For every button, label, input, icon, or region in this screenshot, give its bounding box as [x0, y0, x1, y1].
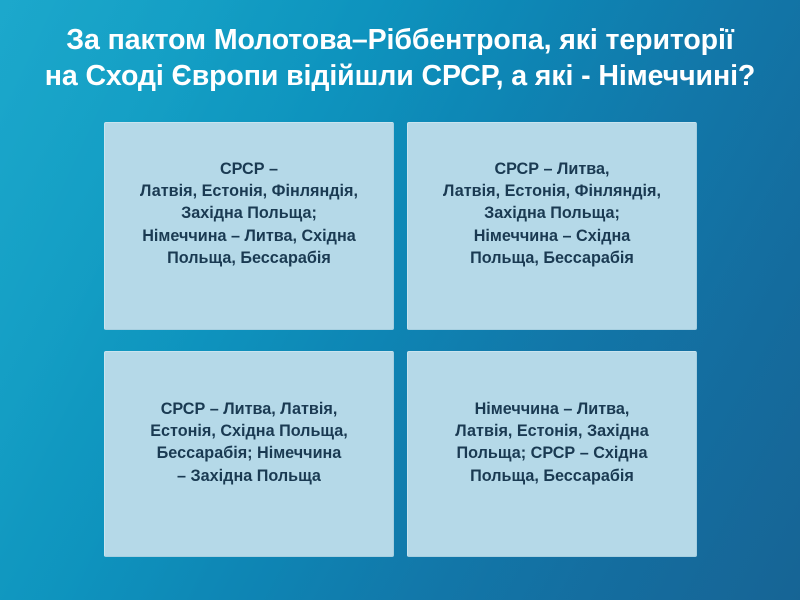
answer-option-2-text: СРСР – Литва, Латвія, Естонія, Фінляндія…	[408, 158, 696, 269]
question-title: За пактом Молотова–Ріббентропа, які тери…	[0, 22, 800, 94]
answer-option-1[interactable]: СРСР – Латвія, Естонія, Фінляндія, Захід…	[104, 122, 394, 330]
answer-option-3[interactable]: СРСР – Литва, Латвія, Естонія, Східна По…	[104, 351, 394, 557]
answer-option-1-text: СРСР – Латвія, Естонія, Фінляндія, Захід…	[105, 158, 393, 269]
answer-option-3-text: СРСР – Литва, Латвія, Естонія, Східна По…	[105, 398, 393, 487]
answer-option-4[interactable]: Німеччина – Литва, Латвія, Естонія, Захі…	[407, 351, 697, 557]
answer-option-2[interactable]: СРСР – Литва, Латвія, Естонія, Фінляндія…	[407, 122, 697, 330]
question-title-line-1: За пактом Молотова–Ріббентропа, які тери…	[14, 22, 786, 58]
quiz-slide: За пактом Молотова–Ріббентропа, які тери…	[0, 0, 800, 600]
answer-options-grid: СРСР – Латвія, Естонія, Фінляндія, Захід…	[104, 122, 697, 557]
answer-option-4-text: Німеччина – Литва, Латвія, Естонія, Захі…	[408, 398, 696, 487]
question-title-line-2: на Сході Європи відійшли СРСР, а які - Н…	[14, 58, 786, 94]
